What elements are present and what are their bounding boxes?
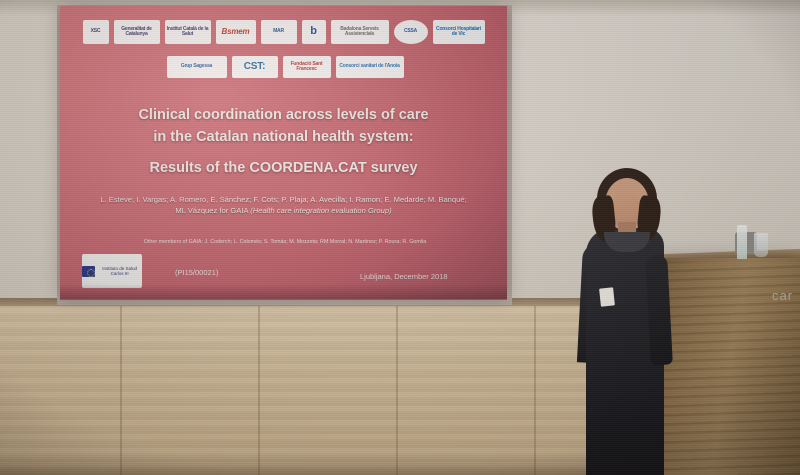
logo-isciii-eu-text: Instituto de Salud Carlos III <box>97 266 142 276</box>
back-wall-left-column <box>0 0 60 300</box>
slide-title-line-3: Results of the COORDENA.CAT survey <box>60 157 507 179</box>
slide-other-members: Other members of GAIA: J. Coderch; L. Co… <box>120 238 450 246</box>
conference-photo: XSC Generalitat de Catalunya Institut Ca… <box>0 0 800 475</box>
slide-title-line-1: Clinical coordination across levels of c… <box>138 107 428 123</box>
logo-institut-catala-salut: Institut Català de la Salut <box>165 20 211 44</box>
logo-bsmem-text: Bsmem <box>222 28 250 36</box>
water-bottle <box>737 225 747 259</box>
logo-mar-text: MAR <box>273 29 284 34</box>
drinking-glass <box>754 233 768 257</box>
logo-consorci-hospitalari-vic: Consorci Hospitalari de Vic <box>433 20 485 44</box>
projection-screen: XSC Generalitat de Catalunya Institut Ca… <box>60 6 507 299</box>
logo-fundacio-sant-francesc: Fundació Sant Francesc <box>283 56 331 78</box>
wall-sign-text: car <box>772 288 793 303</box>
logo-fundacio-sant-francesc-text: Fundació Sant Francesc <box>285 62 329 73</box>
logo-institut-catala-salut-text: Institut Català de la Salut <box>167 27 209 38</box>
slide-authors: L. Esteve; I. Vargas; A. Romero, E. Sánc… <box>96 194 471 217</box>
logo-bsa-text: b <box>310 26 317 38</box>
logo-mar: MAR <box>261 20 297 44</box>
wood-panel-seam <box>258 306 260 475</box>
logo-ssibe-sagessa: Grup Sagessa <box>167 56 227 78</box>
wood-panel-seam <box>396 306 398 475</box>
slide-title-line-2: in the Catalan national health system: <box>153 129 413 145</box>
wood-panel-seam <box>120 306 122 475</box>
logo-consorci-sanitari-anoia: Consorci sanitari de l'Anoia <box>336 56 404 78</box>
logo-cssa: CSSA <box>394 20 428 44</box>
logo-ssibe-sagessa-text: Grup Sagessa <box>181 64 212 69</box>
slide-funding-code: (PI15/00021) <box>175 268 218 277</box>
logo-consorci-hospitalari-vic-text: Consorci Hospitalari de Vic <box>435 27 483 38</box>
slide-logo-row-bottom: Grup Sagessa CST: Fundació Sant Francesc… <box>140 56 430 78</box>
slide-place-date: Ljubljana, December 2018 <box>360 272 448 281</box>
logo-bsmem: Bsmem <box>216 20 256 44</box>
logo-consorci-sanitari-anoia-text: Consorci sanitari de l'Anoia <box>339 64 399 69</box>
logo-cst-text: CST: <box>244 62 265 73</box>
logo-cst: CST: <box>232 56 278 78</box>
wood-panel-seam <box>534 306 536 475</box>
logo-generalitat: Generalitat de Catalunya <box>114 20 160 44</box>
logo-badalona-text: Badalona Serveis Assistencials <box>333 27 387 38</box>
logo-xsc: XSC <box>83 20 109 44</box>
logo-generalitat-text: Generalitat de Catalunya <box>116 27 158 38</box>
speaker-name-badge <box>599 287 615 306</box>
logo-cssa-text: CSSA <box>404 29 417 34</box>
logo-bsa: b <box>302 20 326 44</box>
logo-xsc-text: XSC <box>91 29 101 34</box>
logo-badalona: Badalona Serveis Assistencials <box>331 20 389 44</box>
screen-bottom-shadow <box>60 284 507 300</box>
logo-isciii-eu: Instituto de Salud Carlos III <box>82 254 142 288</box>
slide-authors-group: (Health care integration evaluation Grou… <box>250 206 391 215</box>
eu-flag-icon <box>82 266 95 277</box>
slide-logo-row-top: XSC Generalitat de Catalunya Institut Ca… <box>72 20 495 44</box>
slide-title: Clinical coordination across levels of c… <box>60 104 507 179</box>
